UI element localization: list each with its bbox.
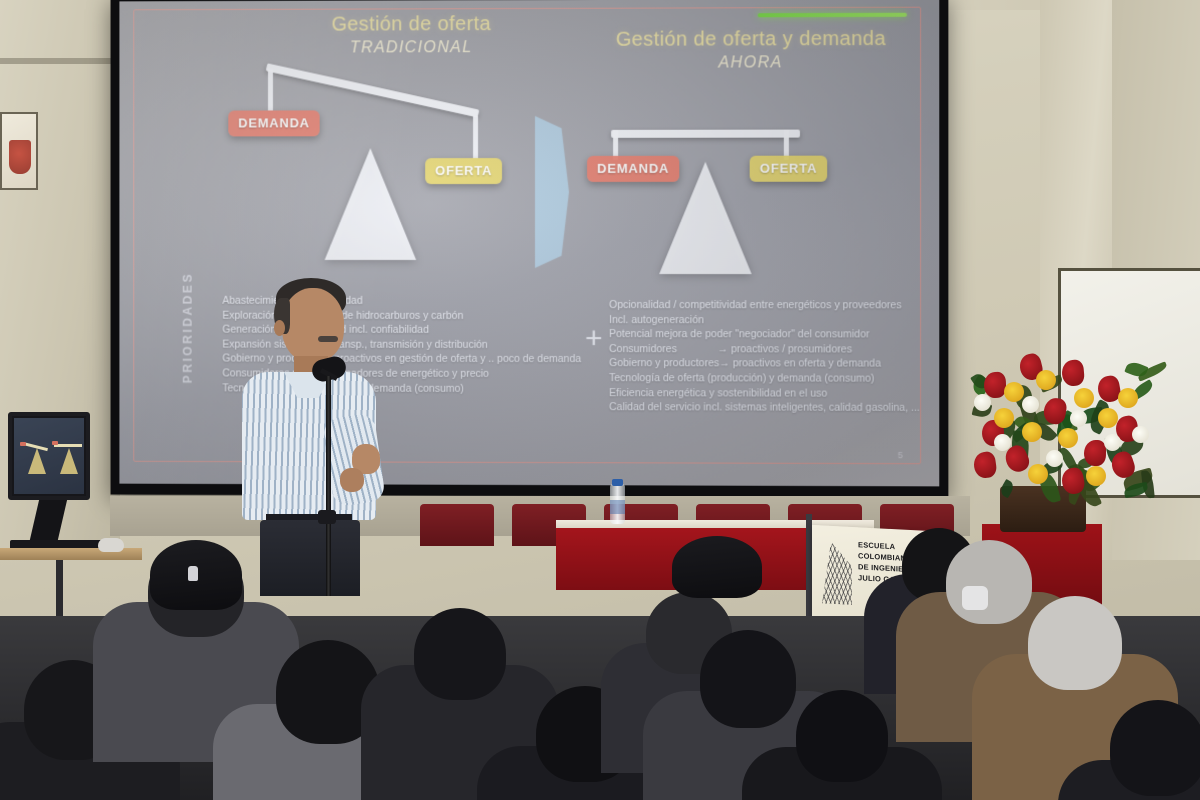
confidence-monitor[interactable] <box>8 412 90 500</box>
monitor-fulcrum-left-icon <box>28 448 46 474</box>
presenter-trousers <box>260 520 360 596</box>
presenter-hand-second <box>340 468 364 492</box>
institution-logo-icon <box>822 541 852 605</box>
arrow-row-label: Consumidores <box>609 342 717 357</box>
crest-icon <box>9 140 31 174</box>
monitor-screen <box>14 418 84 494</box>
yellow-chrysanthemum <box>1086 466 1106 486</box>
monitor-beam-right <box>54 444 82 447</box>
audience-member-head <box>796 690 888 782</box>
bullet-line: Incl. autogeneración <box>609 313 939 328</box>
bullet-line: Calidad del servicio incl. sistemas inte… <box>609 400 939 415</box>
yellow-chrysanthemum <box>1058 428 1078 448</box>
wall-plaque <box>0 112 38 190</box>
bottle-cap <box>612 479 623 486</box>
prioridades-side-label: PRIORIDADES <box>181 272 195 383</box>
white-chrysanthemum <box>1104 434 1121 451</box>
audience-member-cap-cap <box>672 536 762 598</box>
presenter-ear <box>274 320 285 336</box>
bullet-line: Eficiencia energética y sostenibilidad e… <box>609 386 939 401</box>
scale-hanger-left <box>268 69 273 111</box>
right-title-line1: Gestión de oferta y demanda <box>585 27 917 52</box>
left-title-line2: TRADICIONAL <box>262 38 561 58</box>
monitor-badge-left <box>20 442 26 446</box>
yellow-chrysanthemum <box>1022 422 1042 442</box>
audience-member-head <box>1110 700 1200 796</box>
face-mask <box>962 586 988 610</box>
badge-demanda-right: DEMANDA <box>587 156 679 182</box>
monitor-badge-right <box>52 441 58 445</box>
audience-member-head <box>414 608 506 700</box>
bullet-line: Potencial mejora de poder "negociador" d… <box>609 327 939 342</box>
white-chrysanthemum <box>1070 410 1087 427</box>
yellow-chrysanthemum <box>1074 388 1094 408</box>
audience-member-head <box>700 630 796 728</box>
arrow-row-target: proactivos / prosumidores <box>731 343 852 355</box>
nba-logo-icon <box>188 566 198 581</box>
white-chrysanthemum <box>1132 426 1149 443</box>
anthurium-flower <box>1061 359 1085 387</box>
presenter-head <box>282 288 344 362</box>
balance-scale-traditional: DEMANDA OFERTA <box>246 72 495 260</box>
arrow-row-target: proactivos en oferta y demanda <box>733 358 881 370</box>
anthurium-flower <box>972 451 997 480</box>
monitor-fulcrum-right-icon <box>60 448 78 474</box>
white-chrysanthemum <box>994 434 1011 451</box>
microphone-clamp <box>318 510 336 524</box>
lecture-hall-scene: Gestión de oferta TRADICIONAL Gestión de… <box>0 0 1200 800</box>
left-title-line1: Gestión de oferta <box>262 12 561 37</box>
floral-arrangement <box>966 342 1148 498</box>
computer-mouse[interactable] <box>98 538 124 552</box>
badge-demanda-left: DEMANDA <box>228 110 319 136</box>
balance-scale-current: DEMANDA OFERTA <box>599 122 812 275</box>
right-bullet-list: Opcionalidad / competitividad entre ener… <box>609 298 939 416</box>
yellow-chrysanthemum <box>1004 382 1024 402</box>
presenter-moustache <box>318 336 338 342</box>
left-wall-trim <box>0 58 112 64</box>
bullet-line: Opcionalidad / competitividad entre ener… <box>609 298 939 313</box>
yellow-chrysanthemum <box>1098 408 1118 428</box>
audience-member-elderly-head <box>946 540 1032 624</box>
scale-beam <box>611 130 800 138</box>
arrow-icon: → <box>717 343 730 355</box>
scale-hanger-right <box>473 116 478 158</box>
slide-number: 5 <box>898 450 903 460</box>
yellow-chrysanthemum <box>1036 370 1056 390</box>
bullet-line: Tecnología de oferta (producción) y dema… <box>609 371 939 386</box>
arrow-row-label: Gobierno y productores <box>609 357 719 372</box>
left-column-title: Gestión de oferta TRADICIONAL <box>262 12 561 59</box>
chair[interactable] <box>420 504 494 546</box>
audience-member-elderly-tan-head <box>1028 596 1122 690</box>
yellow-chrysanthemum <box>994 408 1014 428</box>
white-chrysanthemum <box>974 394 991 411</box>
right-title-line2: AHORA <box>585 53 917 73</box>
bullet-arrow-row: Gobierno y productores→ proactivos en of… <box>609 357 939 372</box>
accent-line <box>758 13 907 17</box>
badge-oferta-right: OFERTA <box>750 156 828 182</box>
microphone-stand[interactable] <box>326 376 331 596</box>
white-chrysanthemum <box>1046 450 1063 467</box>
foliage-leaf <box>999 479 1017 499</box>
anthurium-flower <box>1084 440 1106 466</box>
presenter <box>236 276 388 586</box>
yellow-chrysanthemum <box>1118 388 1138 408</box>
scale-fulcrum <box>325 148 417 260</box>
arrow-icon: → <box>719 358 732 370</box>
right-column-title: Gestión de oferta y demanda AHORA <box>585 27 917 74</box>
side-table-leg <box>56 560 63 624</box>
plus-icon: + <box>585 330 605 350</box>
bullet-arrow-row: Consumidores→ proactivos / prosumidores <box>609 342 939 357</box>
yellow-chrysanthemum <box>1028 464 1048 484</box>
bottle-label <box>610 500 625 514</box>
white-chrysanthemum <box>1022 396 1039 413</box>
badge-oferta-left: OFERTA <box>425 158 502 184</box>
